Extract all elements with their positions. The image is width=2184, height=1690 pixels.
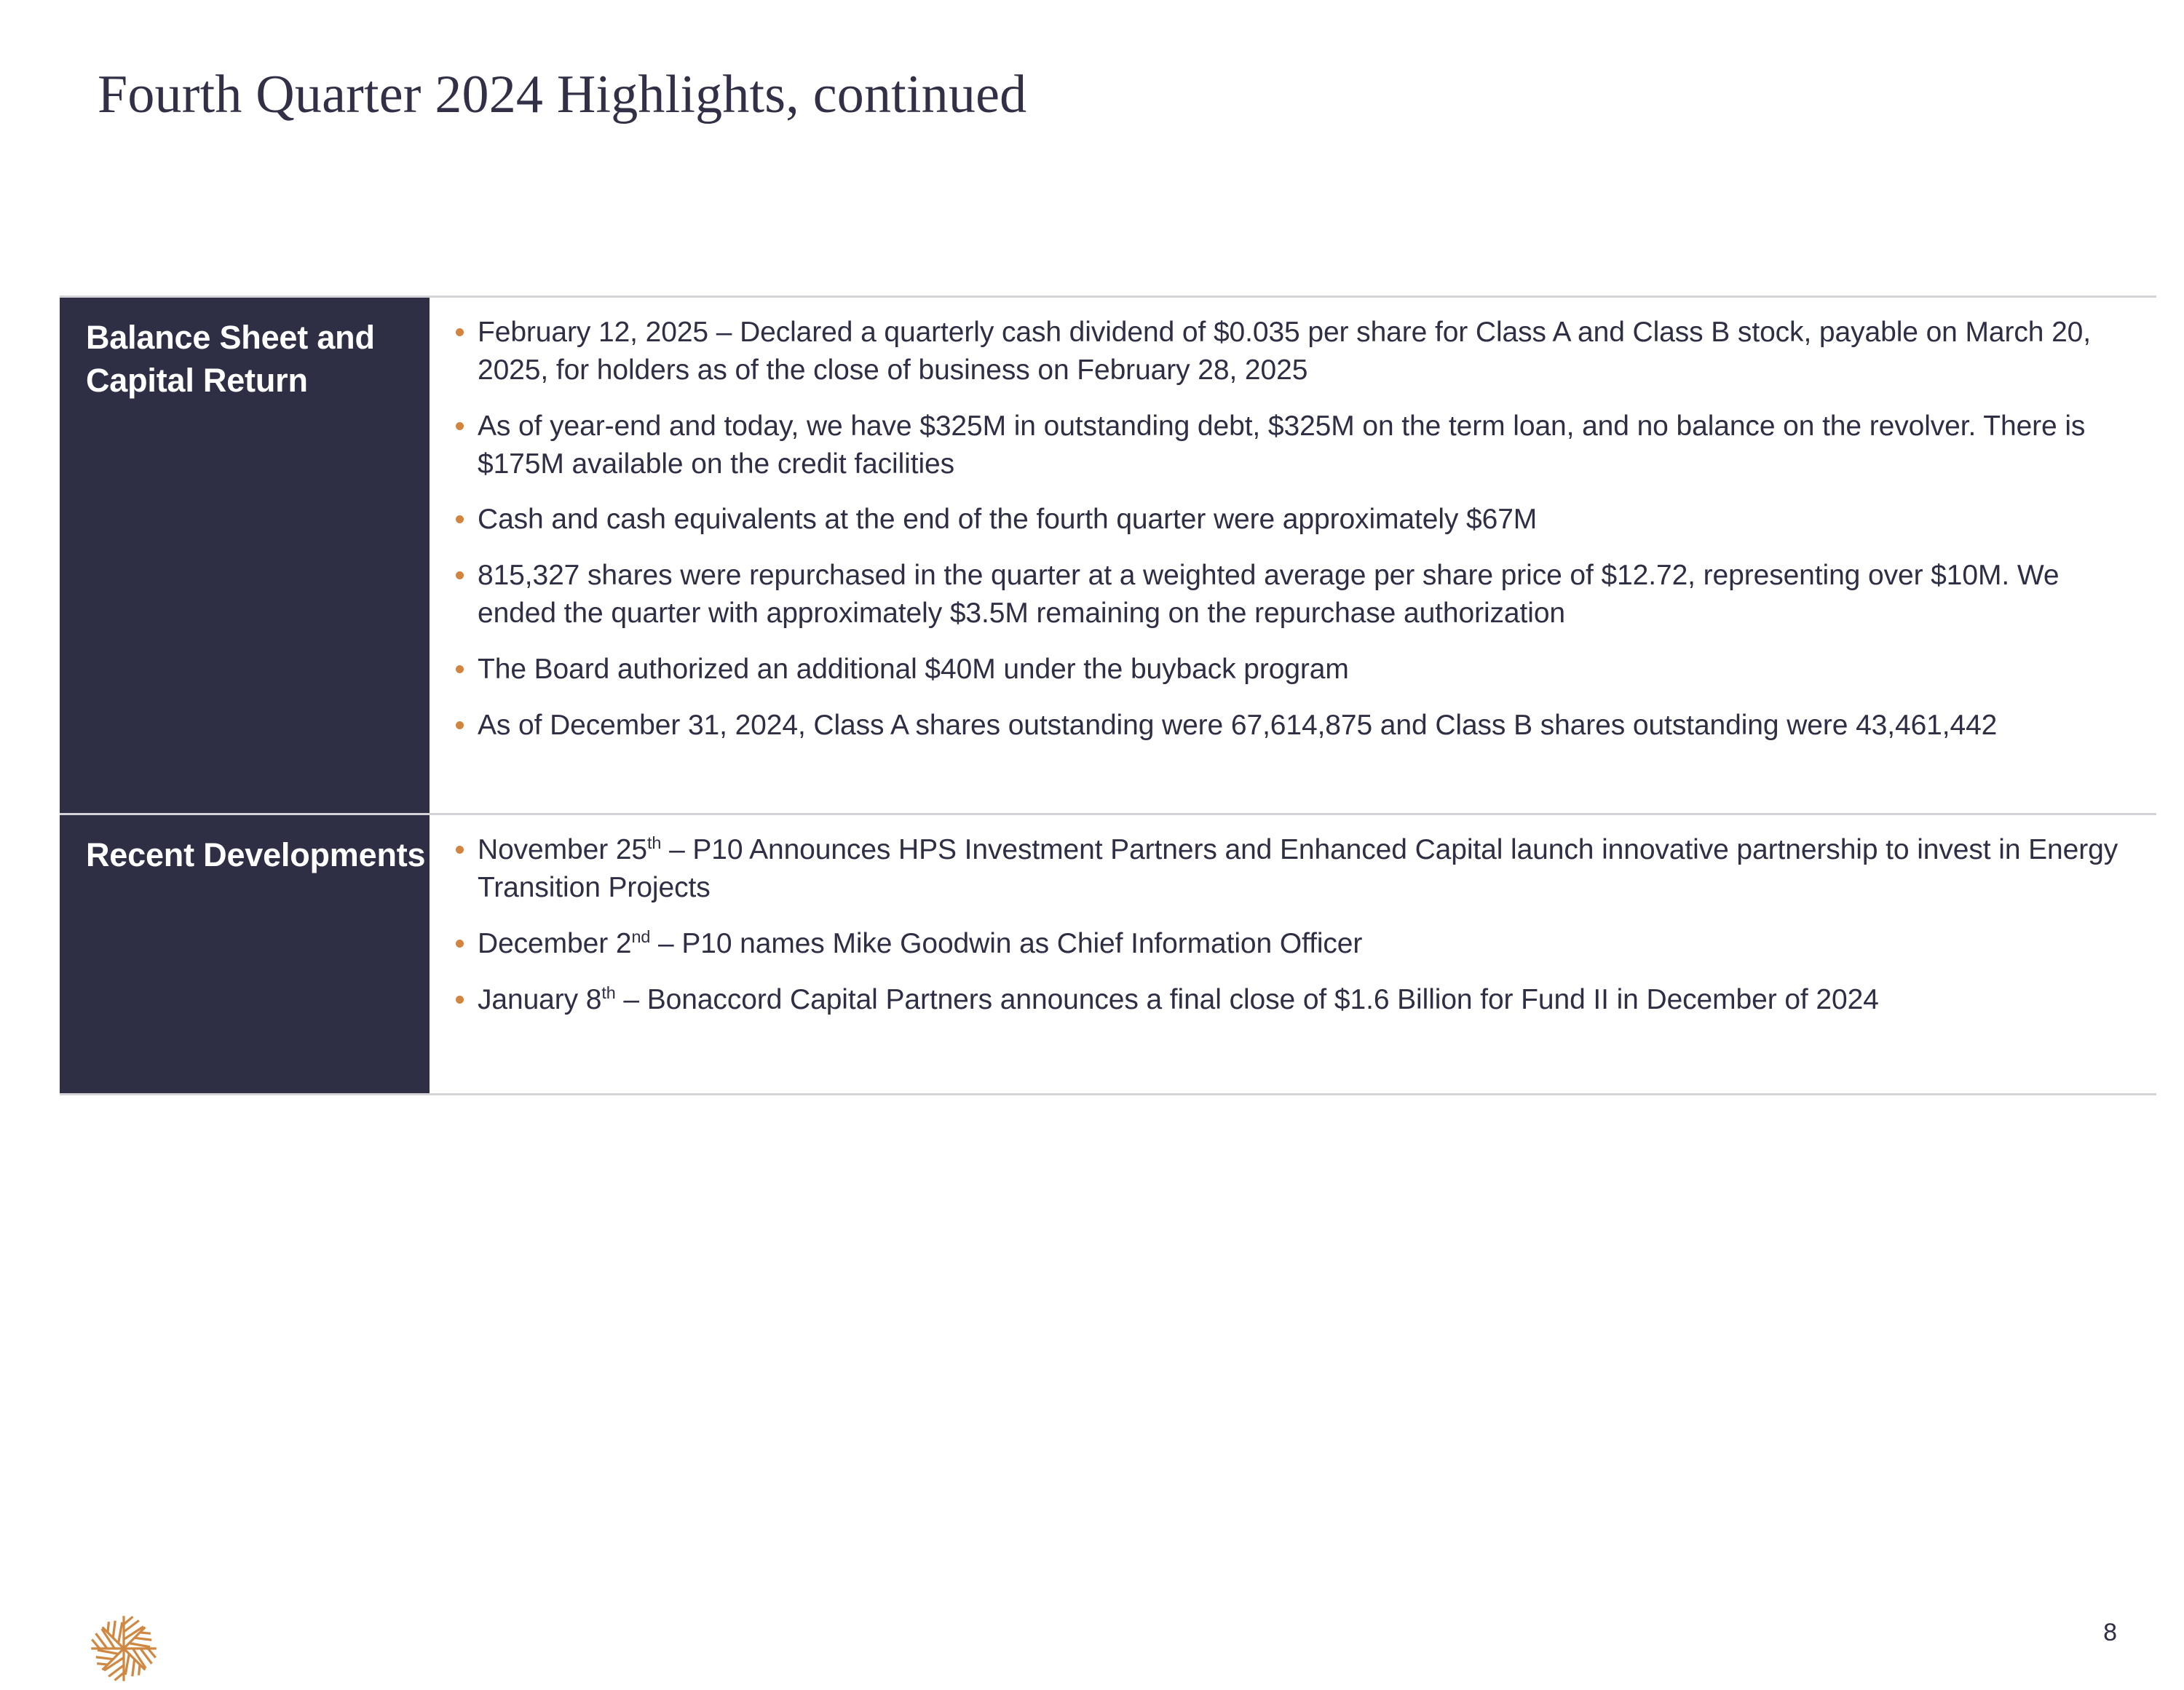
highlights-table: Balance Sheet and Capital Return Februar… <box>60 295 2156 1095</box>
table-row: Recent Developments November 25th – P10 … <box>60 813 2156 1095</box>
row-label-recent-developments: Recent Developments <box>60 815 430 1093</box>
ordinal-suffix: th <box>647 833 661 852</box>
list-item: November 25th – P10 Announces HPS Invest… <box>446 831 2123 907</box>
ordinal-suffix: nd <box>631 927 650 946</box>
list-item: As of December 31, 2024, Class A shares … <box>446 707 2123 745</box>
list-item: January 8th – Bonaccord Capital Partners… <box>446 981 2123 1019</box>
table-row: Balance Sheet and Capital Return Februar… <box>60 295 2156 813</box>
page-number: 8 <box>2103 1619 2117 1647</box>
list-item: 815,327 shares were repurchased in the q… <box>446 557 2123 632</box>
list-item: December 2nd – P10 names Mike Goodwin as… <box>446 925 2123 963</box>
row-content-recent-developments: November 25th – P10 Announces HPS Invest… <box>430 815 2156 1093</box>
p10-pinwheel-logo-icon <box>86 1611 162 1686</box>
row-content-balance-sheet: February 12, 2025 – Declared a quarterly… <box>430 298 2156 813</box>
bullet-list-balance-sheet: February 12, 2025 – Declared a quarterly… <box>446 314 2123 745</box>
list-item: The Board authorized an additional $40M … <box>446 651 2123 689</box>
list-item: As of year-end and today, we have $325M … <box>446 408 2123 483</box>
list-item: Cash and cash equivalents at the end of … <box>446 501 2123 539</box>
page-title: Fourth Quarter 2024 Highlights, continue… <box>98 67 1026 124</box>
row-label-balance-sheet: Balance Sheet and Capital Return <box>60 298 430 813</box>
bullet-list-recent-developments: November 25th – P10 Announces HPS Invest… <box>446 831 2123 1018</box>
list-item: February 12, 2025 – Declared a quarterly… <box>446 314 2123 389</box>
ordinal-suffix: th <box>601 983 615 1002</box>
